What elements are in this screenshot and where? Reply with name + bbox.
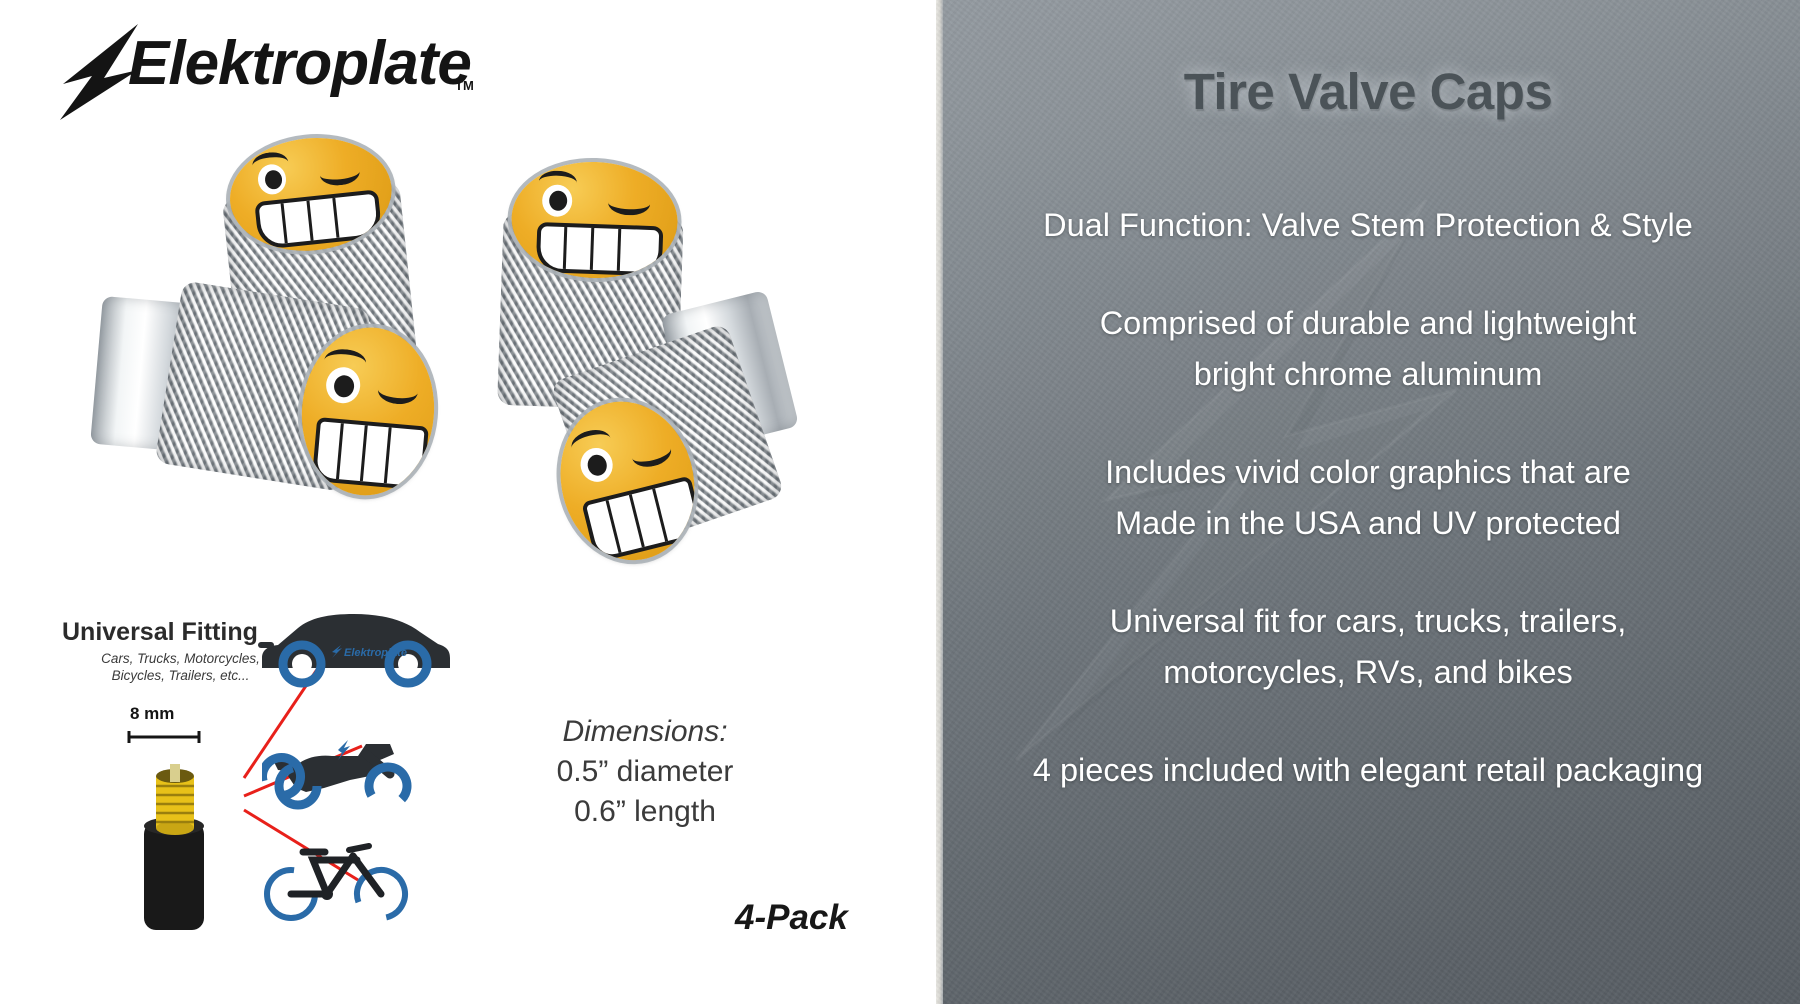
car-icon: Elektroplate — [254, 598, 454, 693]
bicycle-icon — [257, 836, 427, 931]
universal-fitting-diagram: Universal Fitting Cars, Trucks, Motorcyc… — [62, 618, 522, 958]
product-photo-valve-caps — [95, 130, 835, 550]
feature-item: Dual Function: Valve Stem Protection & S… — [962, 200, 1774, 251]
brand-trademark: TM — [455, 78, 474, 93]
right-info-panel: Tire Valve Caps Dual Function: Valve Ste… — [936, 0, 1800, 1004]
feature-item: 4 pieces included with elegant retail pa… — [962, 745, 1774, 796]
panel-title: Tire Valve Caps — [936, 62, 1800, 121]
brand-wordmark: Elektroplate — [128, 28, 471, 99]
product-infographic: Elektroplate TM — [0, 0, 1800, 1004]
valve-cap-bottom-left — [85, 256, 436, 534]
feature-item: Includes vivid color graphics that are M… — [962, 447, 1774, 549]
dimensions-block: Dimensions: 0.5” diameter 0.6” length — [480, 712, 810, 832]
pack-quantity-label: 4-Pack — [735, 898, 848, 938]
feature-item: Comprised of durable and lightweight bri… — [962, 298, 1774, 400]
feature-item: Universal fit for cars, trucks, trailers… — [962, 596, 1774, 698]
dimensions-heading: Dimensions: — [480, 712, 810, 752]
dimension-diameter: 0.5” diameter — [480, 752, 810, 792]
left-product-panel: Elektroplate TM — [0, 0, 936, 1004]
dimension-length: 0.6” length — [480, 792, 810, 832]
motorcycle-icon — [262, 730, 432, 825]
feature-list: Dual Function: Valve Stem Protection & S… — [936, 200, 1800, 796]
brand-logo: Elektroplate TM — [30, 18, 530, 128]
car-badge-label: Elektroplate — [344, 647, 407, 659]
